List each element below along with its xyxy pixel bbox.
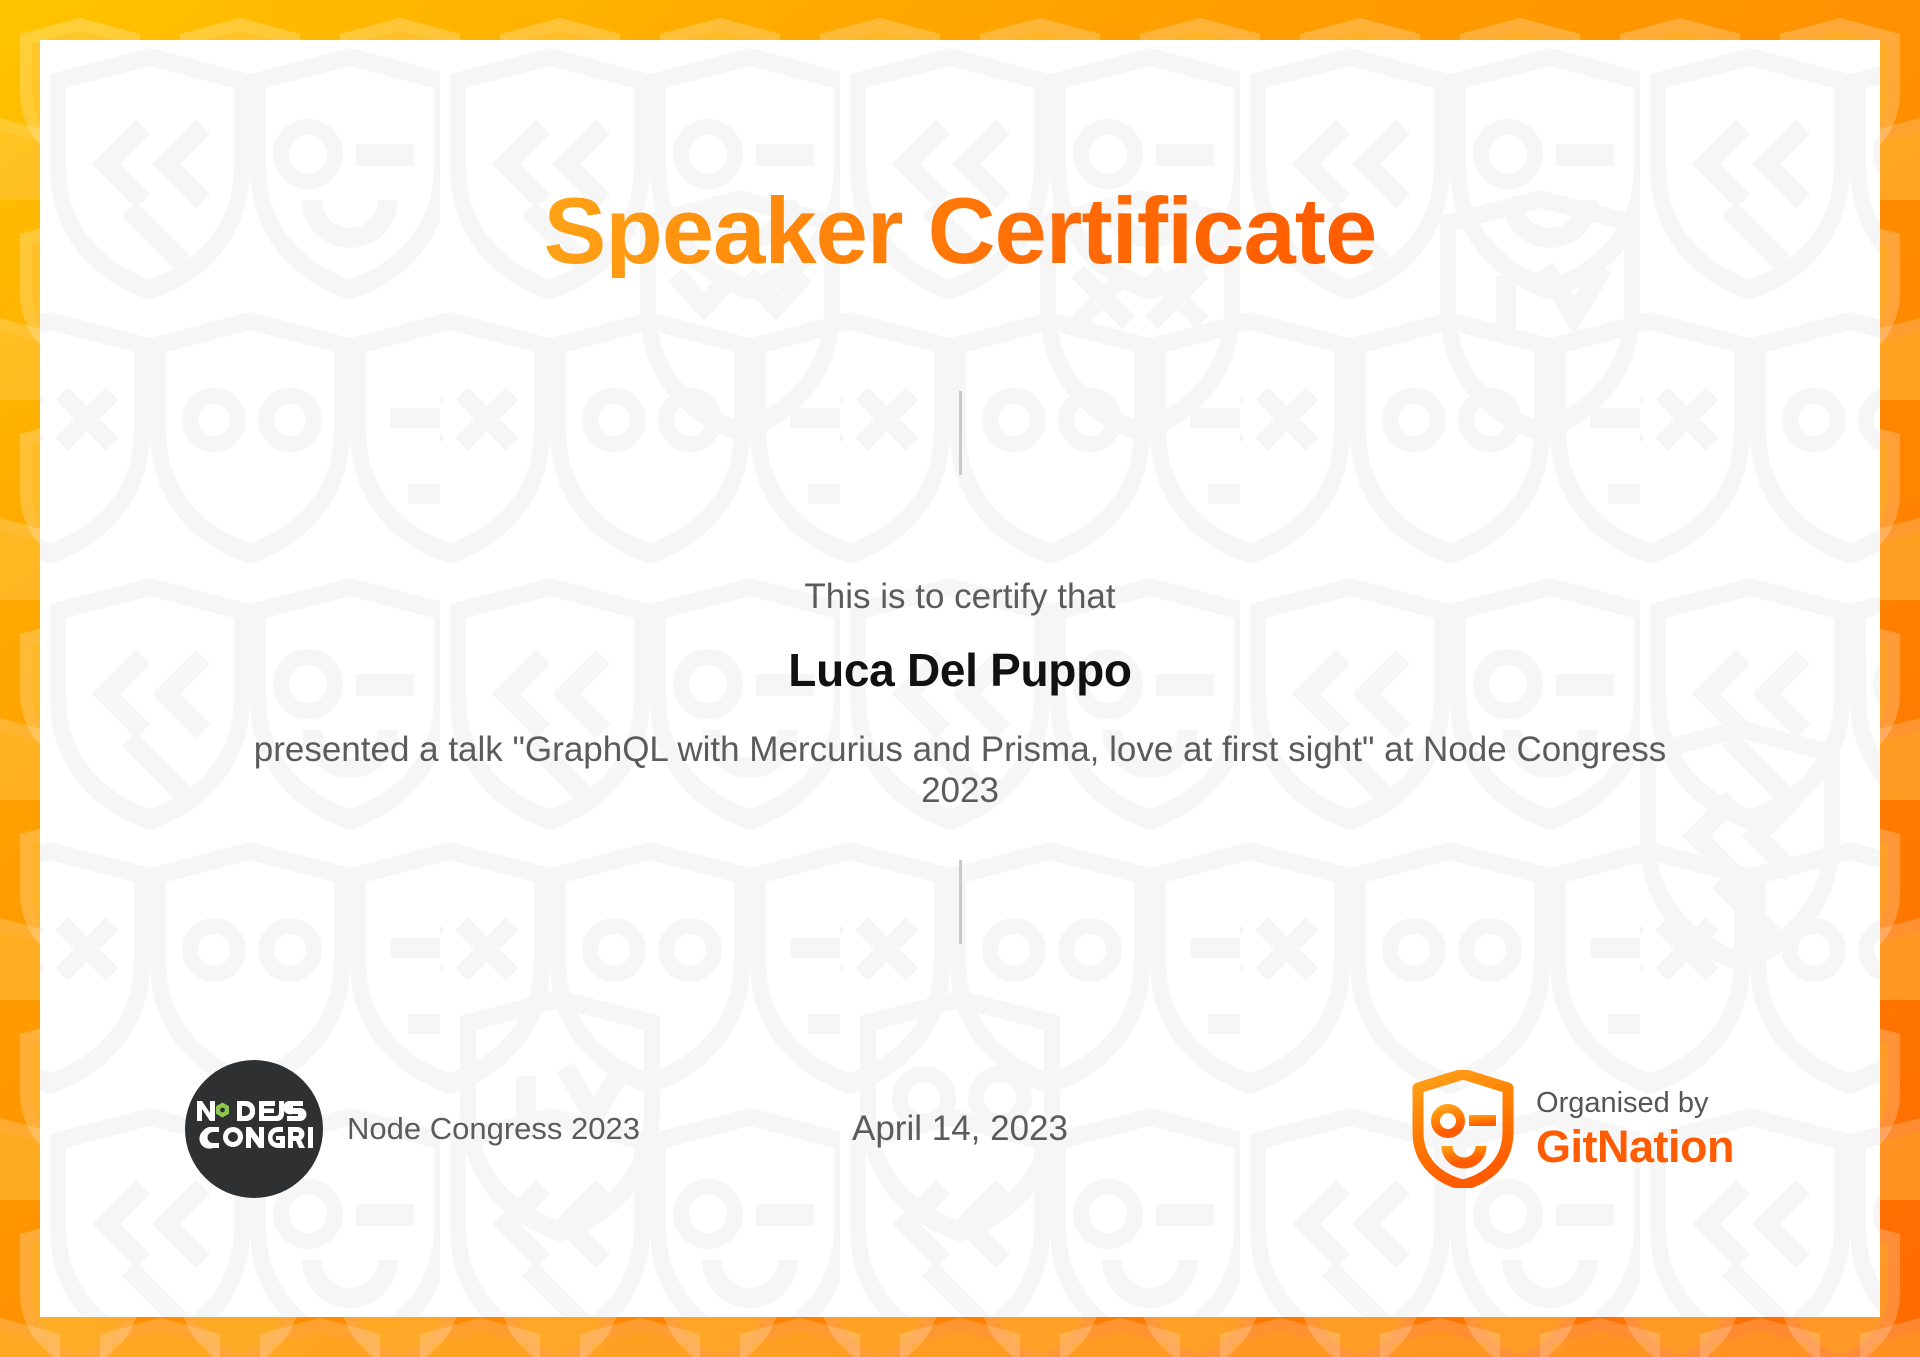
certify-line: This is to certify that xyxy=(804,577,1115,617)
divider-bottom xyxy=(959,860,962,944)
certificate-content: Speaker Certificate This is to certify t… xyxy=(40,40,1880,1317)
certificate-root: Speaker Certificate This is to certify t… xyxy=(0,0,1920,1357)
organiser-name: GitNation xyxy=(1536,1123,1734,1170)
certificate-footer: Node Congress 2023 April 14, 2023 xyxy=(40,1059,1880,1199)
organised-by-label: Organised by xyxy=(1536,1088,1734,1118)
issue-date: April 14, 2023 xyxy=(852,1109,1068,1149)
divider-top xyxy=(959,391,962,475)
gitnation-shield-face-icon xyxy=(1412,1070,1514,1188)
certificate-card: Speaker Certificate This is to certify t… xyxy=(40,40,1880,1317)
talk-statement: presented a talk "GraphQL with Mercurius… xyxy=(215,729,1705,812)
recipient-name: Luca Del Puppo xyxy=(788,643,1131,697)
organiser-text: Organised by GitNation xyxy=(1536,1088,1734,1170)
page-title: Speaker Certificate xyxy=(544,184,1377,278)
organiser-branding: Organised by GitNation xyxy=(1412,1059,1734,1199)
